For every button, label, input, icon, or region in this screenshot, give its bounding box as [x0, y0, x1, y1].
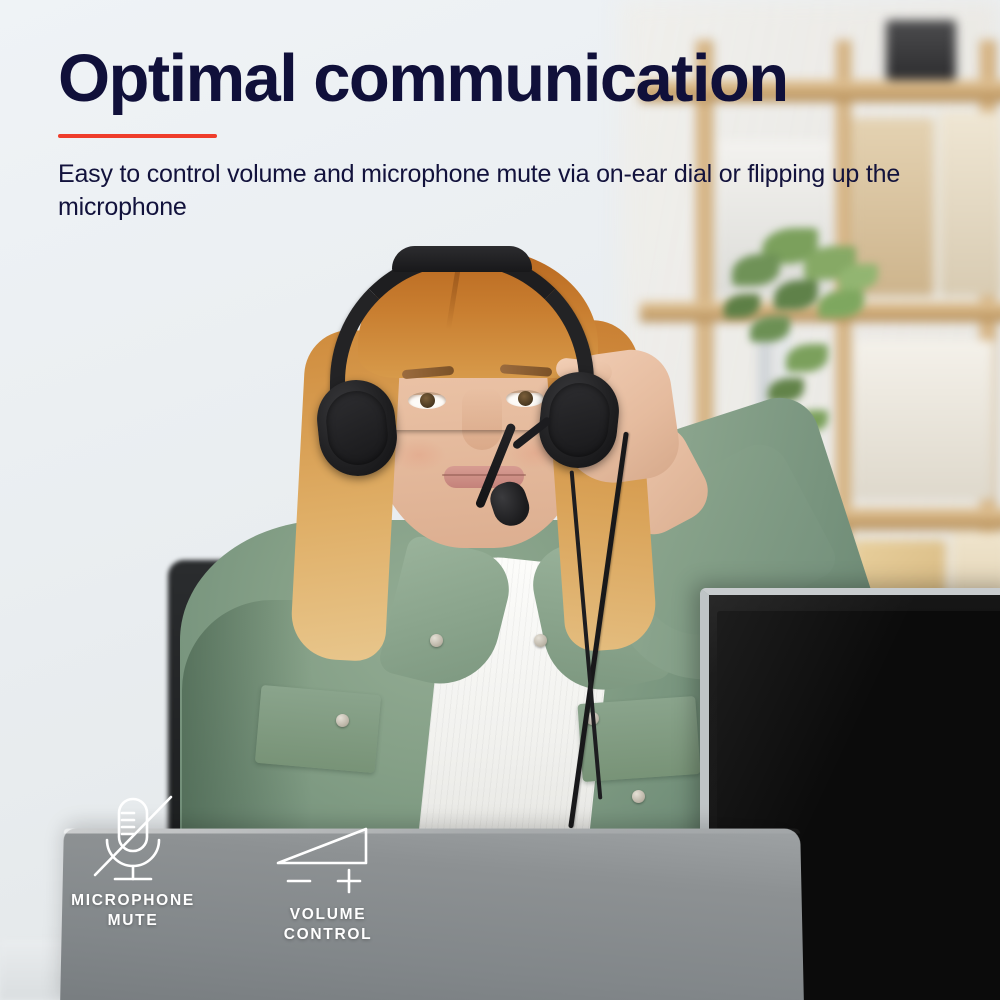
microphone-mute-icon [90, 795, 176, 891]
accent-rule [58, 134, 217, 138]
lip-line [442, 474, 526, 476]
headset-headband-pad [392, 246, 532, 272]
page-subtitle: Easy to control volume and microphone mu… [58, 158, 918, 225]
volume-control-icon [272, 823, 384, 905]
cheek-left [392, 438, 446, 472]
feature-label-microphone-mute: MICROPHONE MUTE [48, 891, 218, 932]
feature-volume-control: VOLUME CONTROL [238, 809, 418, 946]
jacket-button-5 [430, 634, 443, 647]
jacket-pocket-left [255, 685, 381, 773]
jacket-button-1 [336, 714, 349, 727]
promo-banner: Optimal communication Easy to control vo… [0, 0, 1000, 1000]
jacket-button-2 [534, 634, 547, 647]
feature-label-volume-control: VOLUME CONTROL [238, 905, 418, 946]
page-title: Optimal communication [58, 44, 942, 114]
feature-microphone-mute: MICROPHONE MUTE [48, 795, 218, 932]
header-block: Optimal communication Easy to control vo… [0, 0, 1000, 224]
feature-row: MICROPHONE MUTE VOLUME CONTROL [0, 795, 1000, 955]
